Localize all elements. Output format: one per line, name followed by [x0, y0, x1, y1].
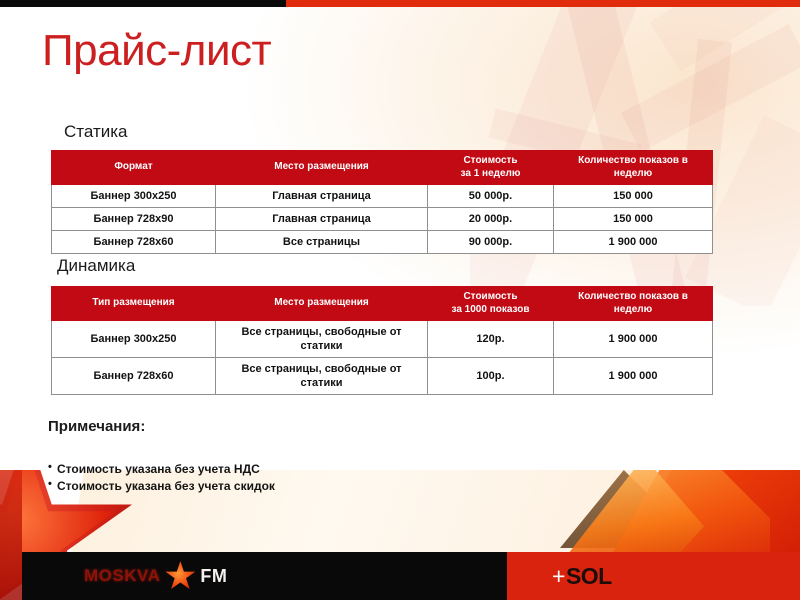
footer-red-panel: +SOL — [507, 552, 800, 600]
page-title: Прайс-лист — [42, 27, 271, 75]
cell-format: Баннер 728х90 — [52, 208, 216, 231]
column-header-placement: Место размещения — [216, 151, 428, 185]
section-label-dynamic: Динамика — [57, 256, 135, 276]
cell-placement: Все страницы — [216, 231, 428, 254]
table-header-row: Формат Место размещения Стоимость за 1 н… — [52, 151, 713, 185]
cell-type: Баннер 300х250 — [52, 321, 216, 358]
cell-impressions: 1 900 000 — [554, 231, 713, 254]
cell-price: 100р. — [428, 358, 554, 395]
cell-price: 120р. — [428, 321, 554, 358]
cell-price: 50 000р. — [428, 185, 554, 208]
column-header-line2: за 1 неделю — [461, 168, 521, 179]
notes-title: Примечания: — [48, 418, 275, 435]
cell-placement: Все страницы, свободные от статики — [216, 358, 428, 395]
table-row: Баннер 728х60 Все страницы, свободные от… — [52, 358, 713, 395]
column-header-line1: Стоимость — [463, 291, 517, 302]
column-header-impressions: Количество показов в неделю — [554, 287, 713, 321]
price-table-static: Формат Место размещения Стоимость за 1 н… — [51, 150, 713, 254]
sol-wordmark: SOL — [566, 563, 612, 589]
cell-impressions: 1 900 000 — [554, 358, 713, 395]
table-row: Баннер 300х250 Все страницы, свободные о… — [52, 321, 713, 358]
price-table-dynamic: Тип размещения Место размещения Стоимост… — [51, 286, 713, 395]
column-header-impressions: Количество показов в неделю — [554, 151, 713, 185]
column-header-format: Формат — [52, 151, 216, 185]
left-red-edge — [0, 470, 22, 600]
column-header-type: Тип размещения — [52, 287, 216, 321]
top-accent-bar — [0, 0, 800, 7]
column-header-line1: Место размещения — [274, 297, 368, 308]
moskva-fm-logo: MOSKVA FM — [84, 561, 227, 591]
column-header-line2: неделю — [614, 304, 652, 315]
table-header-row: Тип размещения Место размещения Стоимост… — [52, 287, 713, 321]
cell-impressions: 150 000 — [554, 208, 713, 231]
table-row: Баннер 728х60 Все страницы 90 000р. 1 90… — [52, 231, 713, 254]
slide-root: MOSKVA FM +SOL Прайс-лист Статика Формат… — [0, 0, 800, 600]
cell-placement: Главная страница — [216, 208, 428, 231]
table-row: Баннер 300х250 Главная страница 50 000р.… — [52, 185, 713, 208]
cell-format: Баннер 300х250 — [52, 185, 216, 208]
cell-type: Баннер 728х60 — [52, 358, 216, 395]
column-header-line1: Количество показов в — [578, 155, 688, 166]
sol-logo: +SOL — [552, 563, 612, 590]
star-icon — [165, 561, 195, 591]
column-header-price: Стоимость за 1000 показов — [428, 287, 554, 321]
cell-placement: Все страницы, свободные от статики — [216, 321, 428, 358]
top-bar-red-segment — [286, 0, 800, 7]
cell-impressions: 150 000 — [554, 185, 713, 208]
note-item: Стоимость указана без учета НДС — [48, 461, 275, 478]
cell-format: Баннер 728х60 — [52, 231, 216, 254]
table-row: Баннер 728х90 Главная страница 20 000р. … — [52, 208, 713, 231]
footer-black-panel: MOSKVA FM — [22, 552, 507, 600]
column-header-line1: Количество показов в — [578, 291, 688, 302]
moskva-wordmark: MOSKVA — [84, 566, 160, 586]
top-bar-black-segment — [0, 0, 286, 7]
note-item: Стоимость указана без учета скидок — [48, 478, 275, 495]
column-header-line1: Тип размещения — [92, 297, 174, 308]
column-header-price: Стоимость за 1 неделю — [428, 151, 554, 185]
column-header-placement: Место размещения — [216, 287, 428, 321]
section-label-static: Статика — [64, 122, 128, 142]
footer-bar: MOSKVA FM +SOL — [22, 552, 800, 600]
notes-block: Примечания: Стоимость указана без учета … — [48, 418, 275, 496]
column-header-line1: Формат — [114, 161, 152, 172]
column-header-line1: Место размещения — [274, 161, 368, 172]
cell-placement: Главная страница — [216, 185, 428, 208]
fm-wordmark: FM — [200, 566, 227, 587]
column-header-line1: Стоимость — [463, 155, 517, 166]
notes-list: Стоимость указана без учета НДС Стоимост… — [48, 461, 275, 496]
cell-impressions: 1 900 000 — [554, 321, 713, 358]
cell-price: 20 000р. — [428, 208, 554, 231]
column-header-line2: за 1000 показов — [451, 304, 529, 315]
cell-price: 90 000р. — [428, 231, 554, 254]
plus-icon: + — [552, 563, 565, 589]
column-header-line2: неделю — [614, 168, 652, 179]
